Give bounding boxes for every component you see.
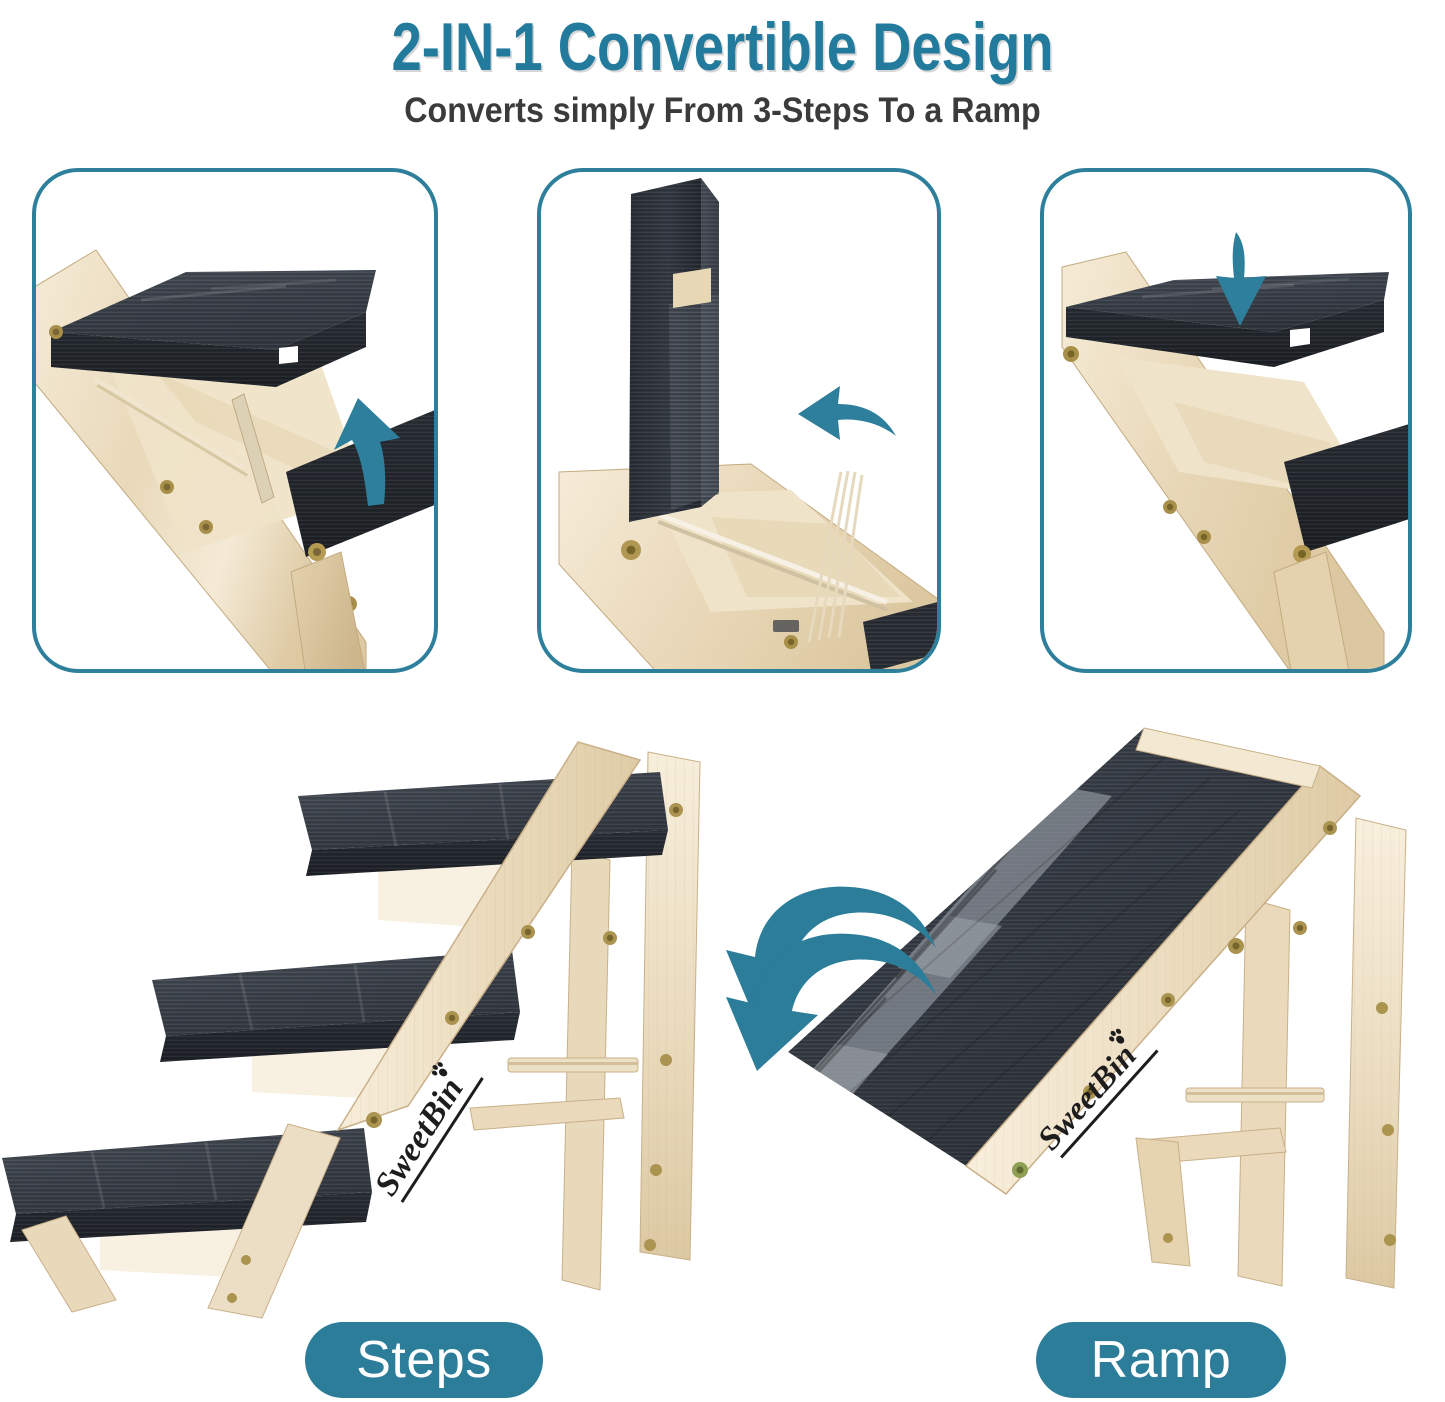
label-steps-text: Steps: [356, 1330, 491, 1390]
page-title: 2-IN-1 Convertible Design: [145, 0, 1301, 86]
product-steps: SweetBin: [0, 700, 710, 1320]
infographic-page: 2-IN-1 Convertible Design Converts simpl…: [0, 0, 1445, 1402]
label-ramp-badge: Ramp: [1036, 1322, 1286, 1398]
label-steps-badge: Steps: [305, 1322, 543, 1398]
arrow-down-icon: [1210, 230, 1272, 330]
arrow-up-icon: [328, 394, 418, 509]
convert-swap-arrows-icon: [700, 852, 960, 1110]
label-ramp-text: Ramp: [1091, 1330, 1232, 1390]
steps-illustration: SweetBin: [0, 700, 710, 1320]
panel-fold-flat: [537, 168, 941, 673]
panel-lift-step: [32, 168, 438, 673]
header: 2-IN-1 Convertible Design Converts simpl…: [0, 0, 1445, 132]
page-subtitle: Converts simply From 3-Steps To a Ramp: [58, 90, 1387, 132]
steps-sequence-panels: [0, 168, 1445, 680]
panel-lower-step: [1040, 168, 1412, 673]
arrow-left-icon: [794, 384, 899, 456]
